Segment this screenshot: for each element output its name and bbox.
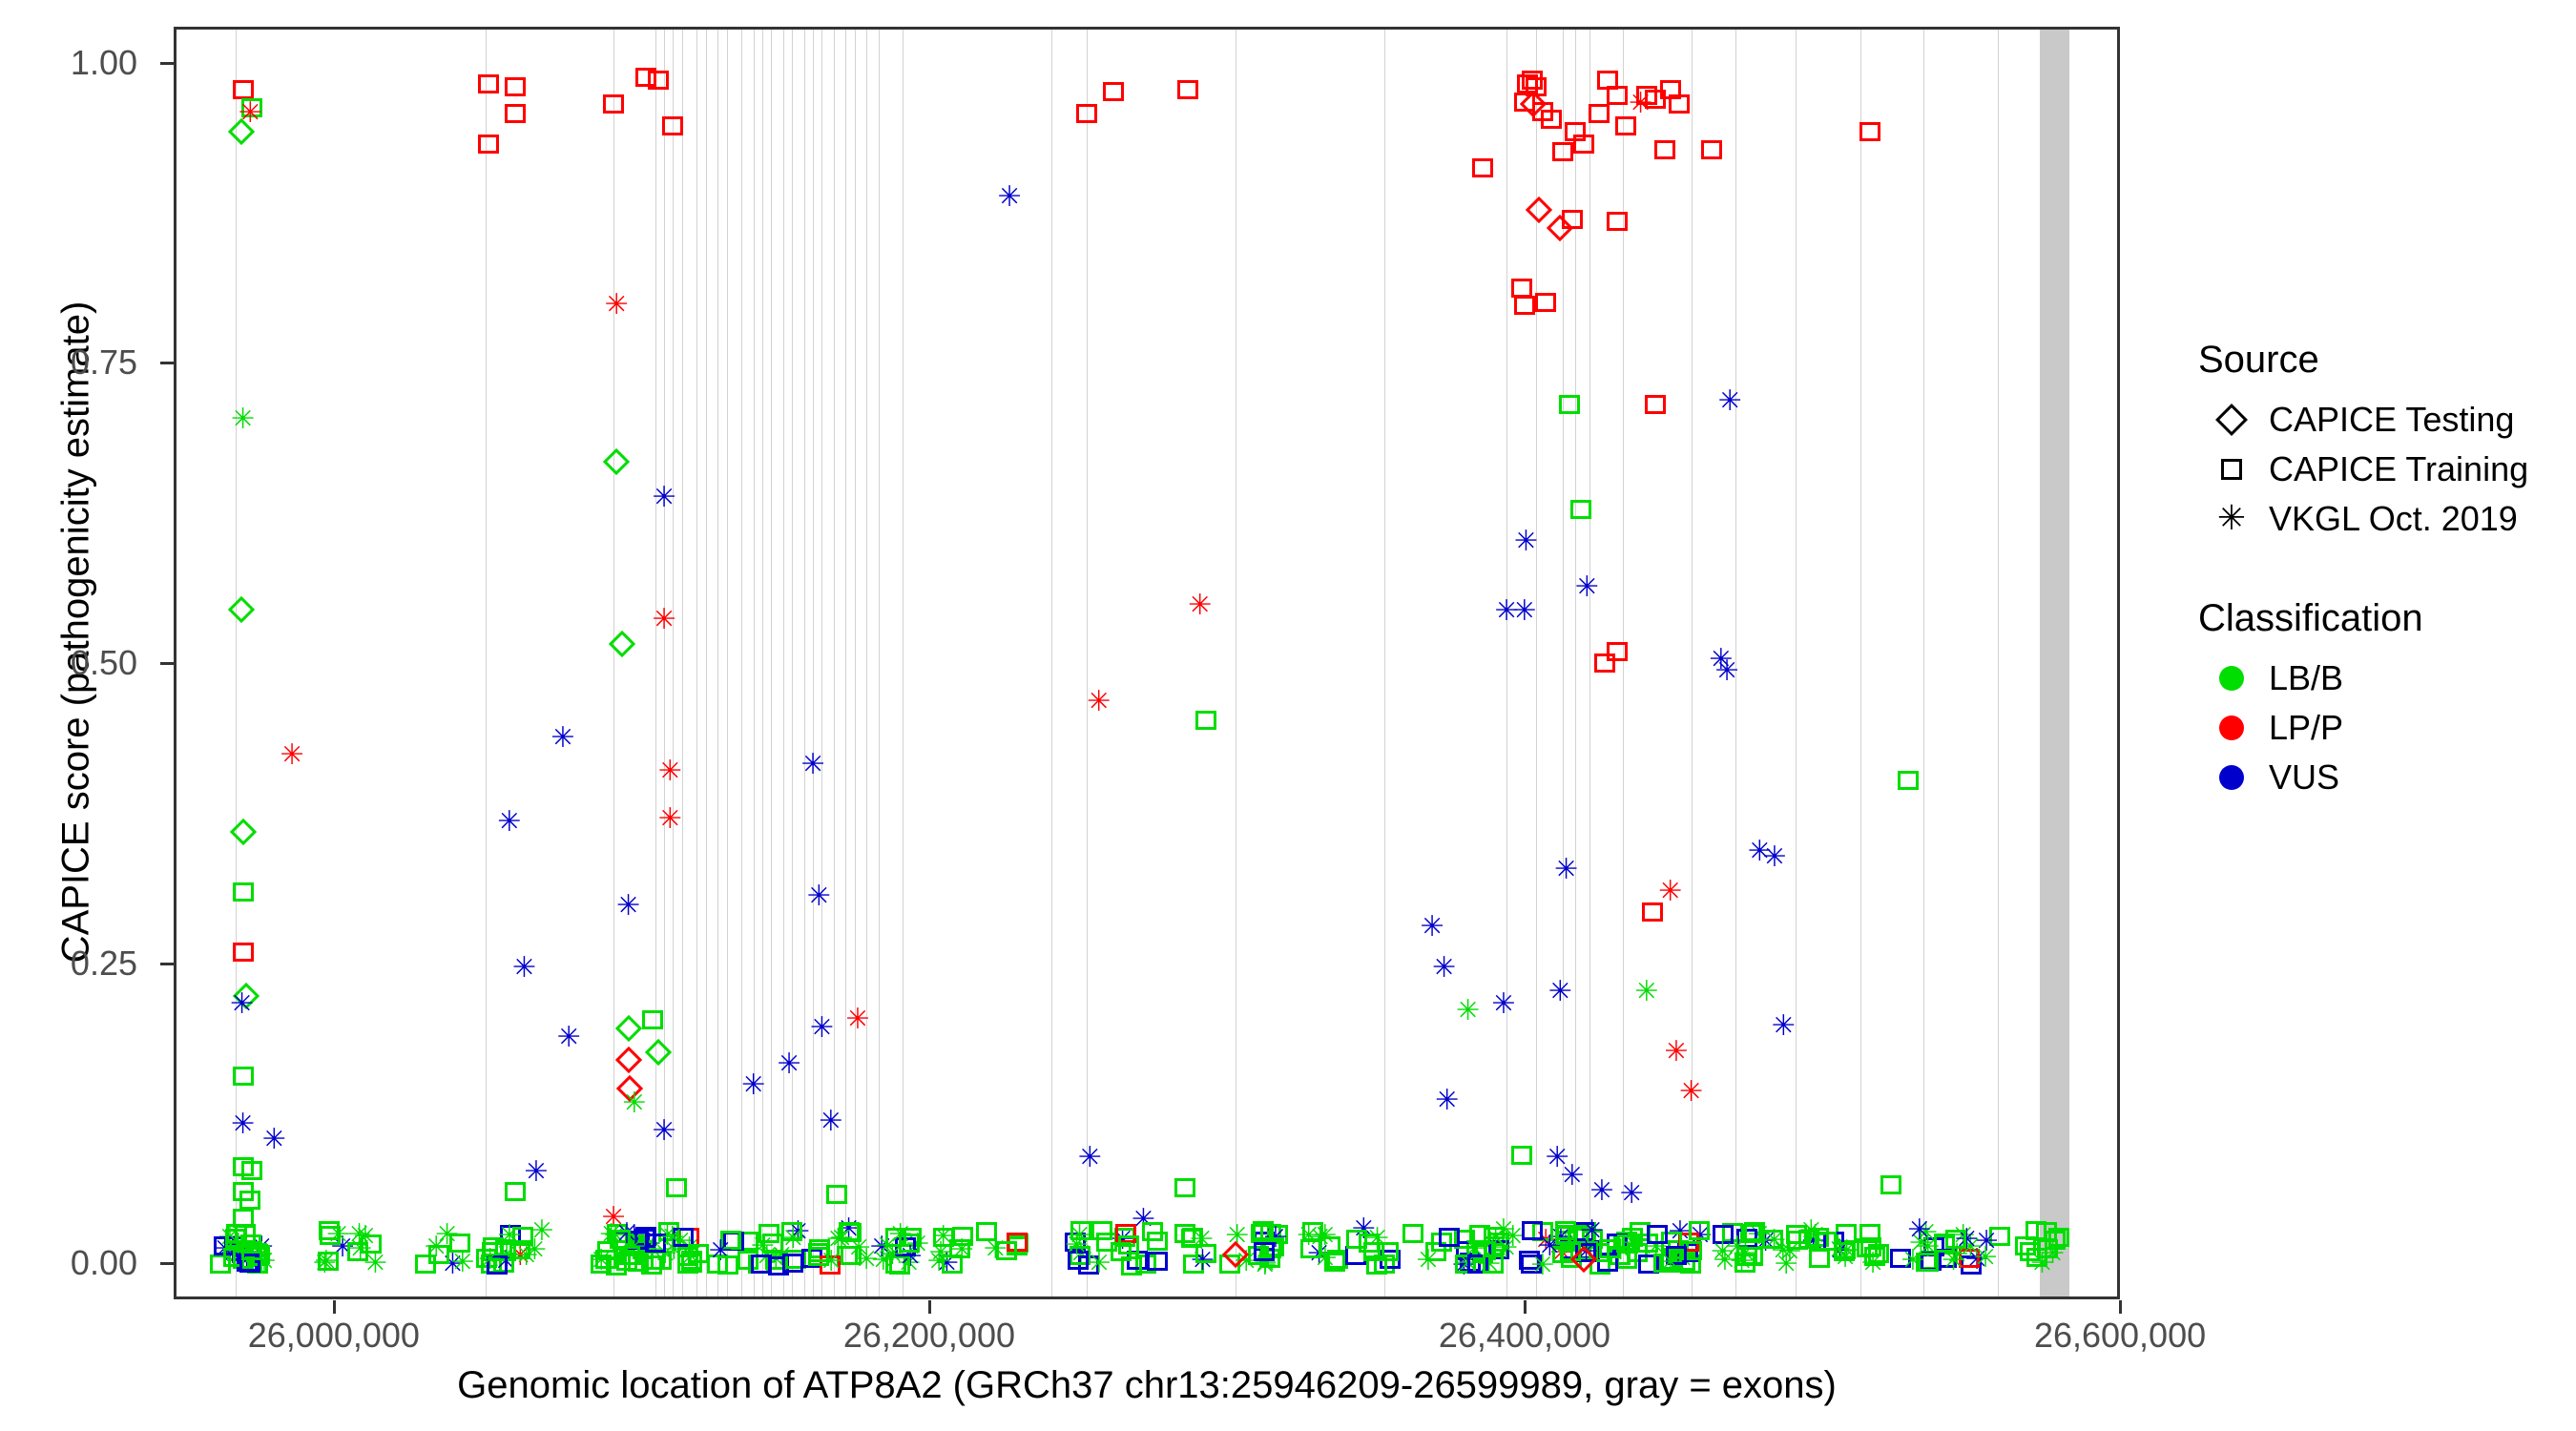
legend-title: Source [2198, 339, 2566, 382]
data-point [1555, 1225, 1576, 1244]
exon-gridline [1692, 30, 1693, 1296]
data-point [1816, 1232, 1837, 1251]
legend-key [2194, 445, 2269, 494]
data-point [1254, 1242, 1275, 1261]
data-point [1741, 1224, 1762, 1243]
data-point [1677, 1243, 1698, 1262]
data-point: ✳ [1632, 978, 1661, 1006]
data-point [1260, 1239, 1281, 1258]
data-point [1467, 1255, 1488, 1274]
data-point [952, 1227, 973, 1246]
data-point [1511, 1146, 1532, 1165]
data-point: ✳ [614, 892, 643, 921]
x-tick-mark [928, 1300, 931, 1314]
data-point [223, 1248, 244, 1267]
data-point [762, 1234, 783, 1253]
data-point [247, 1244, 268, 1263]
data-point [1744, 1222, 1765, 1241]
legend-item-label: LB/B [2269, 658, 2343, 698]
data-point [628, 1231, 649, 1250]
data-point: ✳ [804, 882, 833, 911]
data-point: ✳ [886, 1221, 915, 1250]
data-point [1809, 1249, 1830, 1268]
data-point: ✳ [981, 1235, 1009, 1264]
data-point [1617, 1234, 1638, 1254]
data-point [1514, 93, 1535, 112]
data-point: ✳ [1715, 387, 1744, 416]
legend-item[interactable]: LP/P [2194, 703, 2566, 753]
data-point [361, 1234, 382, 1254]
data-point [1267, 1225, 1288, 1244]
square-icon [2221, 459, 2242, 480]
data-point: ✳ [1971, 1244, 2000, 1273]
dot-icon [2219, 666, 2244, 691]
data-point [229, 819, 256, 845]
data-point: ✳ [1552, 856, 1581, 884]
data-point [1007, 1233, 1028, 1252]
data-point [1118, 1235, 1139, 1255]
data-point [1111, 1242, 1132, 1261]
data-point [1890, 1249, 1911, 1268]
data-point [241, 1253, 262, 1272]
data-point: ✳ [1489, 990, 1518, 1019]
y-tick-mark [160, 963, 174, 965]
data-point [1637, 1234, 1658, 1253]
data-point: ✳ [1449, 1252, 1478, 1280]
data-point: ✳ [1942, 1241, 1971, 1270]
data-point: ✳ [1572, 573, 1601, 602]
data-point [1798, 1230, 1819, 1249]
exon-gridline [855, 30, 856, 1296]
data-point [1607, 1234, 1628, 1253]
y-tick-label: 0.50 [0, 646, 137, 680]
data-point [1762, 1230, 1783, 1249]
data-point: ✳ [761, 1246, 790, 1275]
data-point: ✳ [1708, 1238, 1736, 1267]
data-point [1319, 1236, 1340, 1255]
data-point [1472, 1244, 1493, 1263]
data-point [1859, 1224, 1880, 1243]
data-point [347, 1242, 368, 1261]
data-point [641, 1255, 662, 1275]
exon-gridline [1384, 30, 1385, 1296]
exon-gridline [754, 30, 755, 1296]
exon-gridline [696, 30, 697, 1296]
data-point [1251, 1224, 1272, 1243]
data-point [748, 1255, 769, 1274]
data-point [1114, 1228, 1135, 1247]
exon-gridline [834, 30, 835, 1296]
legend-gap [2194, 544, 2566, 597]
data-point: ✳ [1535, 1233, 1564, 1261]
data-point [1363, 1242, 1384, 1261]
data-point [619, 1246, 640, 1265]
data-point: ✳ [653, 1222, 681, 1251]
data-point: ✳ [1668, 1245, 1696, 1274]
data-point [1713, 1225, 1734, 1244]
data-point: ✳ [506, 1242, 534, 1271]
legend: SourceCAPICE TestingCAPICE Training✳VKGL… [2194, 339, 2566, 802]
data-point [1918, 1253, 1939, 1272]
data-point [1961, 1255, 1982, 1275]
data-point [449, 1234, 470, 1253]
data-point: ✳ [1797, 1217, 1825, 1246]
data-point [1589, 1255, 1610, 1275]
data-point [512, 1227, 533, 1246]
data-point: ✳ [312, 1248, 341, 1276]
exon-gridline [613, 30, 614, 1296]
data-point [808, 1243, 829, 1262]
data-point [628, 1253, 649, 1272]
data-point: ✳ [1769, 1237, 1797, 1266]
data-point [717, 1255, 738, 1275]
legend-key: ✳ [2194, 494, 2269, 544]
data-point: ✳ [1578, 1217, 1607, 1246]
data-point: ✳ [1499, 1223, 1527, 1252]
data-point: ✳ [933, 1250, 962, 1278]
data-point [1078, 1255, 1099, 1275]
data-point: ✳ [843, 1006, 872, 1034]
data-point [1562, 210, 1583, 229]
legend-item[interactable]: VUS [2194, 753, 2566, 802]
data-point: ✳ [1707, 646, 1735, 674]
data-point [826, 1185, 847, 1204]
data-point: ✳ [1760, 843, 1789, 872]
exon-gridline [727, 30, 728, 1296]
data-point [1346, 1230, 1367, 1249]
data-point [597, 1241, 618, 1260]
legend-title: Classification [2198, 597, 2566, 640]
data-point [1483, 1255, 1504, 1274]
data-point [1835, 1240, 1856, 1259]
data-point [1666, 1246, 1687, 1265]
data-point [606, 1256, 627, 1275]
data-point [1607, 212, 1628, 231]
data-point: ✳ [587, 1247, 615, 1275]
data-point [247, 1247, 268, 1266]
data-point [1484, 1236, 1505, 1255]
data-point: ✳ [229, 1246, 258, 1275]
data-point [1302, 1222, 1323, 1241]
data-point: ✳ [1187, 1226, 1215, 1255]
data-point [233, 983, 260, 1009]
data-point [1402, 1224, 1423, 1243]
plot-area: ✳✳✳✳✳✳✳✳✳✳✳✳✳✳✳✳✳✳✳✳✳✳✳✳✳✳✳✳✳✳✳✳✳✳✳✳✳✳✳✳… [177, 30, 2117, 1296]
data-point [1380, 1250, 1401, 1269]
exon-gridline [1623, 30, 1624, 1296]
exon-gridline [486, 30, 487, 1296]
data-point: ✳ [224, 1231, 253, 1259]
data-point: ✳ [229, 405, 258, 434]
data-point: ✳ [1251, 1250, 1279, 1278]
exon-gridline [1563, 30, 1564, 1296]
data-point: ✳ [448, 1249, 477, 1277]
data-point [1622, 1228, 1643, 1247]
data-point: ✳ [1251, 1252, 1279, 1280]
data-point [1573, 135, 1594, 154]
data-point [1541, 110, 1562, 129]
data-point: ✳ [520, 1236, 549, 1265]
data-point [241, 1161, 262, 1180]
data-point: ✳ [1261, 1224, 1290, 1253]
data-point: ✳ [1543, 1144, 1571, 1172]
exon-gridline [879, 30, 880, 1296]
data-point: ✳ [947, 1236, 976, 1265]
data-point [415, 1255, 436, 1274]
data-point [1182, 1228, 1203, 1247]
y-axis-title: CAPICE score (pathogenicity estimate) [55, 22, 98, 1243]
data-point: ✳ [1129, 1206, 1157, 1234]
data-point: ✳ [634, 1231, 663, 1259]
data-point: ✳ [1311, 1222, 1340, 1251]
data-point [237, 1253, 258, 1272]
data-point [648, 71, 669, 90]
data-point [241, 98, 262, 117]
data-point [481, 1255, 502, 1274]
data-point [227, 1242, 248, 1261]
data-point [622, 1246, 643, 1265]
data-point [1616, 1250, 1637, 1269]
data-point: ✳ [1418, 913, 1446, 942]
data-point: ✳ [1760, 1227, 1789, 1255]
legend-key [2194, 653, 2269, 703]
data-point: ✳ [1066, 1222, 1094, 1251]
legend-key [2194, 395, 2269, 445]
data-point: ✳ [492, 1241, 521, 1270]
data-point [1535, 293, 1556, 312]
data-point [1439, 1228, 1460, 1247]
data-point [428, 1245, 449, 1264]
data-point [681, 1254, 702, 1273]
data-point: ✳ [250, 1248, 279, 1276]
data-point: ✳ [522, 1158, 551, 1187]
legend-item[interactable]: ✳VKGL Oct. 2019 [2194, 494, 2566, 544]
data-point [1484, 1227, 1505, 1246]
data-point [2015, 1236, 2036, 1255]
data-point: ✳ [620, 1089, 649, 1118]
data-point: ✳ [438, 1251, 467, 1279]
x-axis-title: Genomic location of ATP8A2 (GRCh37 chr13… [174, 1364, 2120, 1407]
legend-item[interactable]: LB/B [2194, 653, 2566, 703]
data-point [1880, 1175, 1901, 1194]
data-point [1736, 1247, 1757, 1266]
data-point [889, 1255, 910, 1275]
data-point [239, 1191, 260, 1210]
data-point: ✳ [1085, 688, 1113, 716]
data-point: ✳ [247, 1241, 276, 1270]
data-point: ✳ [1547, 1224, 1575, 1253]
data-point: ✳ [1305, 1240, 1334, 1269]
data-point [1599, 1239, 1620, 1258]
data-point: ✳ [1349, 1215, 1378, 1244]
data-point [214, 1236, 235, 1255]
data-point: ✳ [1662, 1038, 1691, 1067]
data-point [1647, 1225, 1668, 1244]
data-point [478, 74, 499, 93]
data-point [1522, 1221, 1543, 1240]
data-point [839, 1222, 860, 1241]
data-point [942, 1255, 963, 1274]
data-point: ✳ [1311, 1245, 1340, 1274]
data-point [226, 1224, 247, 1243]
data-point: ✳ [476, 1246, 505, 1275]
data-point: ✳ [1627, 90, 1655, 118]
data-point [1253, 1221, 1274, 1240]
data-point [1559, 395, 1580, 414]
data-point [1701, 140, 1722, 159]
data-point [505, 1182, 526, 1201]
x-tick-mark [2119, 1300, 2122, 1314]
data-point: ✳ [345, 1221, 374, 1250]
data-point [210, 1255, 231, 1274]
data-point [1577, 1241, 1598, 1260]
data-point [614, 1015, 641, 1042]
data-point [1638, 1255, 1659, 1274]
data-point [820, 1255, 841, 1275]
data-point [249, 1245, 270, 1264]
data-point [885, 1255, 906, 1274]
exon-gridline [717, 30, 718, 1296]
data-point [240, 1234, 261, 1254]
data-point: ✳ [835, 1215, 863, 1244]
data-point [1263, 1237, 1284, 1256]
data-point: ✳ [924, 1248, 953, 1276]
data-point [1174, 1224, 1195, 1243]
data-point: ✳ [1223, 1222, 1252, 1251]
data-point [505, 77, 526, 96]
data-point [1007, 1236, 1028, 1255]
data-point: ✳ [1952, 1226, 1981, 1255]
data-point [841, 1246, 862, 1265]
data-point [1466, 1240, 1487, 1259]
data-point: ✳ [1826, 1237, 1855, 1266]
data-point [1898, 771, 1919, 790]
data-point [1959, 1249, 1980, 1268]
data-point: ✳ [1617, 1180, 1646, 1209]
legend-item[interactable]: CAPICE Testing [2194, 395, 2566, 445]
data-point [1547, 214, 1573, 240]
data-point [318, 1252, 339, 1271]
data-point: ✳ [1799, 1228, 1828, 1256]
data-point [320, 1226, 341, 1245]
data-point: ✳ [895, 1250, 924, 1278]
data-point [247, 1255, 268, 1274]
data-point: ✳ [260, 1126, 288, 1154]
exon-gridline [1735, 30, 1736, 1296]
data-point: ✳ [1769, 1012, 1797, 1041]
data-point: ✳ [1430, 954, 1459, 983]
data-point [1568, 1228, 1589, 1247]
legend-item-label: VKGL Oct. 2019 [2269, 499, 2518, 539]
data-point [651, 1251, 672, 1270]
legend-key [2194, 703, 2269, 753]
data-point [1195, 1244, 1216, 1263]
data-point: ✳ [247, 1234, 276, 1262]
data-point: ✳ [1067, 1240, 1095, 1269]
data-point: ✳ [1546, 978, 1574, 1006]
data-point [1645, 395, 1666, 414]
data-point: ✳ [1956, 1234, 1984, 1262]
data-point [808, 1247, 829, 1266]
data-point [1431, 1233, 1452, 1252]
data-point: ✳ [706, 1237, 735, 1266]
data-point [895, 1237, 916, 1256]
data-point [1857, 1238, 1878, 1257]
data-point: ✳ [495, 1222, 524, 1251]
data-point [2020, 1242, 2041, 1261]
data-point [1630, 1222, 1651, 1241]
data-point [1135, 1255, 1156, 1274]
asterisk-icon: ✳ [2217, 502, 2246, 536]
data-point [1722, 1223, 1743, 1242]
data-point: ✳ [1572, 1238, 1601, 1267]
exon-gridline [762, 30, 763, 1296]
data-point: ✳ [1972, 1228, 2001, 1256]
exon-gridline [655, 30, 656, 1296]
exon-gridline [1860, 30, 1861, 1296]
exon-gridline [783, 30, 784, 1296]
exon-bar [2040, 30, 2069, 1296]
y-tick-label: 1.00 [0, 46, 137, 80]
data-point: ✳ [351, 1223, 380, 1252]
data-point [1345, 1246, 1366, 1265]
data-point [228, 596, 255, 623]
data-point [1616, 1232, 1637, 1251]
data-point: ✳ [867, 1234, 896, 1262]
chart-figure: CAPICE score (pathogenicity estimate) Ge… [0, 0, 2576, 1431]
data-point [1532, 102, 1553, 121]
data-point [1836, 1224, 1857, 1243]
data-point: ✳ [422, 1234, 450, 1262]
data-point [1514, 296, 1535, 315]
y-tick-mark [160, 362, 174, 364]
data-point: ✳ [1295, 1222, 1323, 1251]
data-point: ✳ [827, 1225, 856, 1254]
data-point [645, 1039, 672, 1066]
data-point: ✳ [245, 1247, 274, 1275]
legend-item-label: VUS [2269, 757, 2339, 798]
data-point [1735, 1254, 1755, 1273]
data-point [1660, 80, 1681, 99]
data-point [1103, 82, 1124, 101]
data-point [1923, 1237, 1944, 1256]
exon-gridline [1923, 30, 1924, 1296]
data-point [614, 1047, 641, 1073]
data-point: ✳ [1460, 1235, 1488, 1264]
data-point [633, 1240, 654, 1259]
data-point: ✳ [218, 1240, 247, 1269]
data-point [1936, 1249, 1957, 1268]
data-point: ✳ [620, 1222, 649, 1251]
data-point: ✳ [1489, 1216, 1518, 1245]
data-point: ✳ [1186, 591, 1215, 620]
data-point [658, 1222, 679, 1241]
data-point: ✳ [346, 1235, 375, 1264]
legend-item[interactable]: CAPICE Training [2194, 445, 2566, 494]
data-point: ✳ [324, 1221, 353, 1250]
data-point [642, 1010, 663, 1029]
data-point: ✳ [310, 1250, 339, 1278]
data-point [673, 1228, 694, 1247]
data-point [1181, 1229, 1202, 1248]
data-point [613, 1232, 634, 1251]
data-point [1121, 1256, 1142, 1275]
data-point: ✳ [1363, 1225, 1392, 1254]
data-point: ✳ [1656, 1249, 1685, 1277]
data-point [1425, 1242, 1446, 1261]
data-point [1142, 1222, 1163, 1241]
data-point: ✳ [1940, 1247, 1968, 1275]
